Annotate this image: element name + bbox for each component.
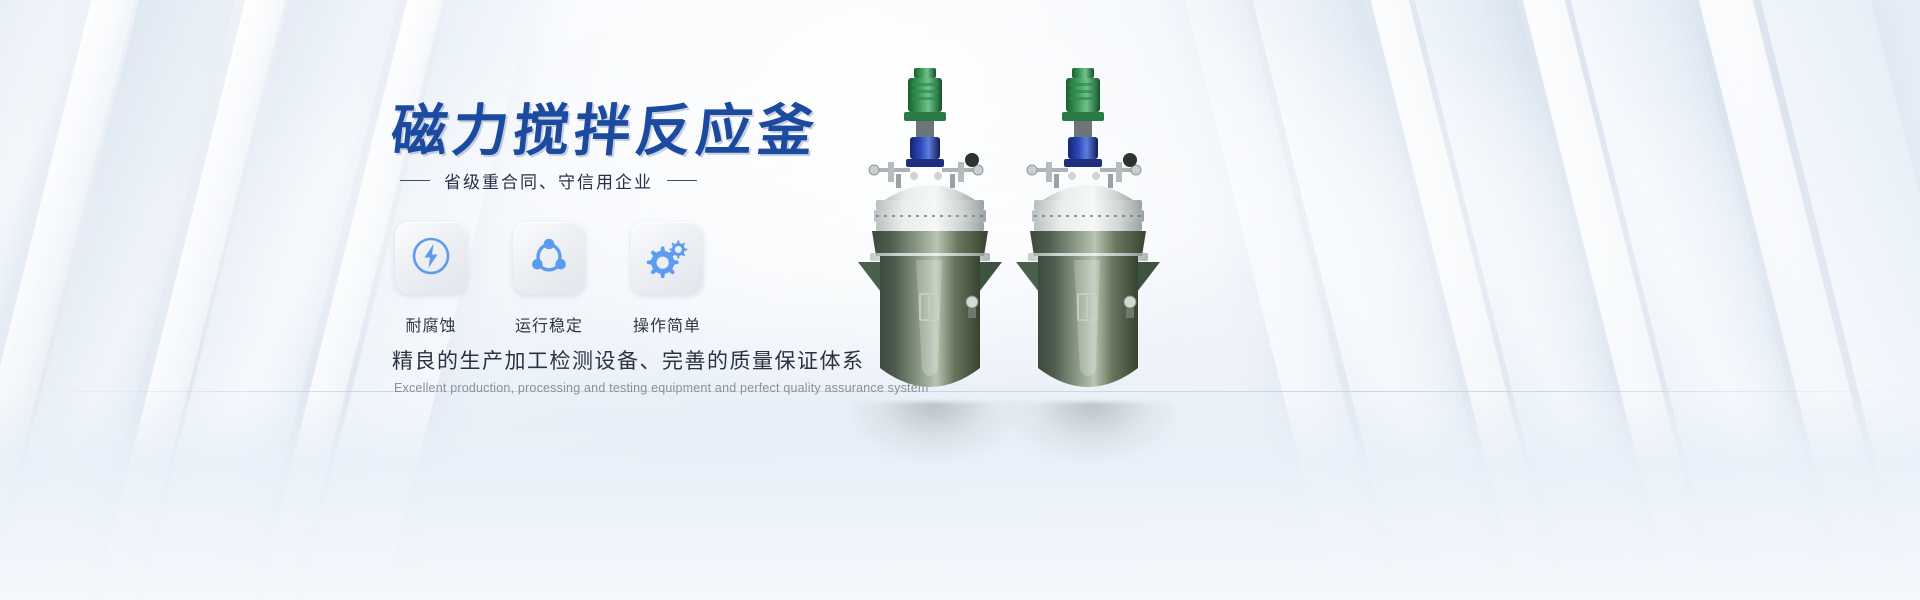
product-image-group	[840, 50, 1220, 470]
feature-icon-tile	[395, 222, 467, 294]
banner-subtitle: 省级重合同、守信用企业	[444, 168, 653, 193]
gears-icon	[644, 234, 690, 283]
banner-title: 磁力搅拌反应釜	[388, 86, 824, 167]
feature-icon-tile	[513, 222, 585, 294]
banner-subtitle-row: 省级重合同、守信用企业	[400, 168, 697, 193]
feature-list: 耐腐蚀 运行稳定	[392, 222, 706, 336]
feature-item-corrosion-resistant[interactable]: 耐腐蚀	[392, 222, 470, 336]
reactor-vessel-right	[1008, 50, 1168, 430]
dash-left-icon	[400, 180, 430, 182]
share-network-icon	[527, 234, 571, 283]
feature-icon-tile	[631, 222, 703, 294]
feature-label: 耐腐蚀	[392, 312, 470, 336]
feature-label: 运行稳定	[510, 312, 588, 336]
lightning-bolt-icon	[409, 234, 453, 283]
feature-item-stable-operation[interactable]: 运行稳定	[510, 222, 588, 336]
feature-label: 操作简单	[628, 312, 706, 336]
dash-right-icon	[667, 180, 697, 182]
reactor-vessel-left	[850, 50, 1010, 430]
tagline-cn: 精良的生产加工检测设备、完善的质量保证体系	[392, 345, 865, 375]
feature-item-simple-operation[interactable]: 操作简单	[628, 222, 706, 336]
product-banner: 磁力搅拌反应釜 省级重合同、守信用企业 耐腐蚀	[0, 0, 1920, 600]
